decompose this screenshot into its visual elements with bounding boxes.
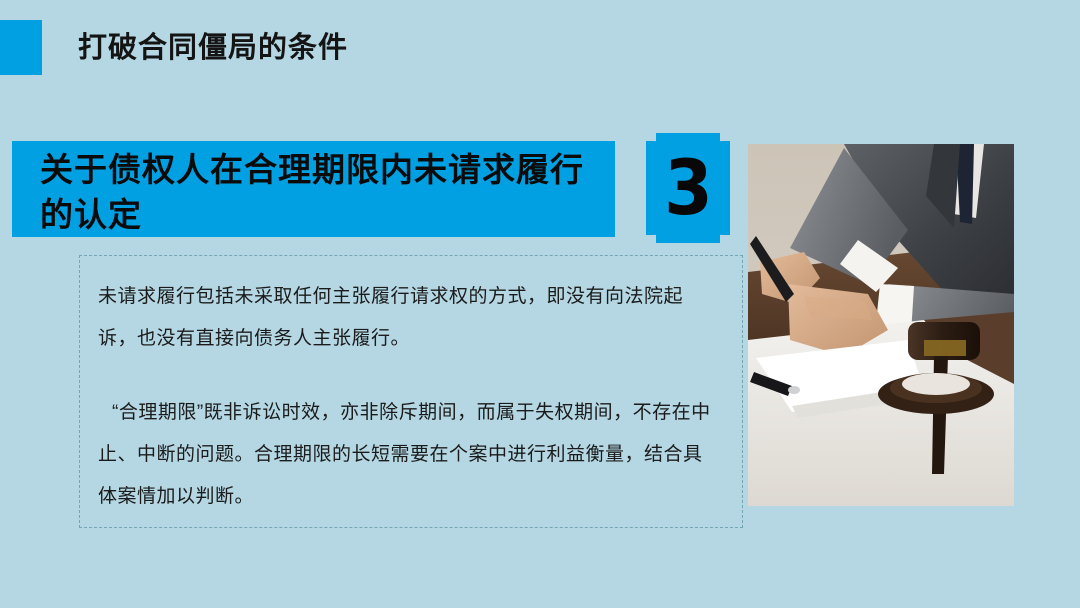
slide-canvas: 打破合同僵局的条件 关于债权人在合理期限内未请求履行的认定 3 未请求履行包括未…	[0, 0, 1080, 608]
body-paragraph-1: 未请求履行包括未采取任何主张履行请求权的方式，即没有向法院起诉，也没有直接向债务…	[98, 276, 720, 360]
page-title: 打破合同僵局的条件	[78, 27, 348, 69]
header-accent-marker	[0, 20, 42, 75]
body-text-box: 未请求履行包括未采取任何主张履行请求权的方式，即没有向法院起诉，也没有直接向债务…	[79, 255, 743, 528]
body-paragraph-2: “合理期限”既非诉讼时效，亦非除斥期间，而属于失权期间，不存在中止、中断的问题。…	[98, 392, 720, 518]
section-number-text: 3	[664, 150, 713, 226]
illustration-photo	[748, 144, 1014, 506]
section-number-badge: 3	[646, 133, 730, 243]
photo-graphic	[748, 144, 1014, 506]
section-title-text: 关于债权人在合理期限内未请求履行的认定	[40, 147, 615, 237]
section-title-banner: 关于债权人在合理期限内未请求履行的认定	[12, 141, 615, 237]
